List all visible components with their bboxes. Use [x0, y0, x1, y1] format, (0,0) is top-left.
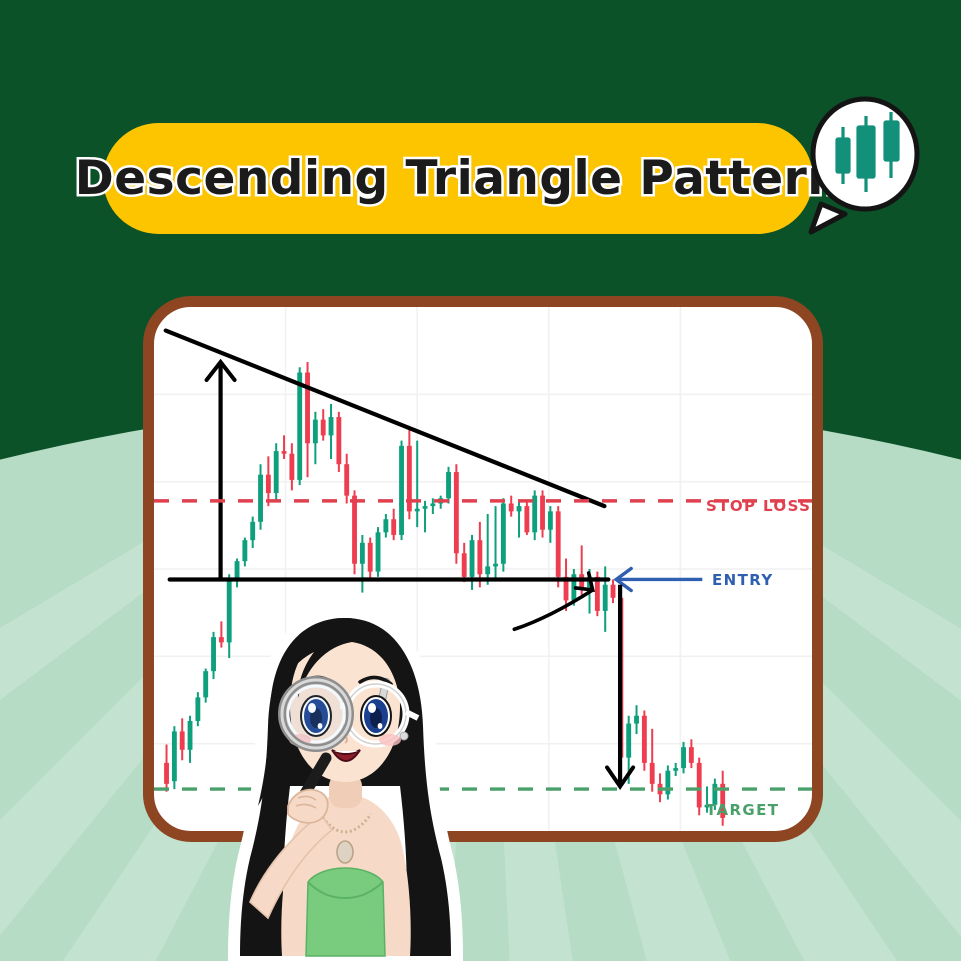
candlestick — [250, 517, 255, 548]
candlestick — [446, 467, 451, 504]
candlestick — [650, 729, 655, 792]
target-label: TARGET — [706, 801, 779, 819]
candlestick — [642, 710, 647, 770]
candlestick — [164, 745, 169, 792]
candlestick — [524, 501, 529, 535]
candlestick — [344, 454, 349, 504]
candlestick — [289, 443, 294, 490]
candlestick — [423, 501, 428, 532]
candlestick — [462, 543, 467, 582]
candlestick — [235, 559, 240, 588]
candlestick — [501, 498, 506, 571]
candlestick — [266, 456, 271, 506]
blush-right — [379, 734, 401, 746]
candlestick — [454, 464, 459, 564]
stop-loss-label: STOP LOSS — [706, 497, 811, 515]
upper-trendline — [166, 331, 605, 507]
candlestick — [203, 669, 208, 703]
candlestick — [697, 758, 702, 816]
candlestick — [211, 632, 216, 679]
necklace-pendant — [337, 841, 353, 863]
page-title: Descending Triangle Pattern — [103, 123, 813, 234]
candlestick — [407, 428, 412, 520]
candlestick — [352, 490, 357, 574]
character-illustration — [228, 606, 463, 961]
entry-line — [616, 568, 702, 590]
candlestick — [219, 621, 224, 647]
candlestick — [603, 566, 608, 632]
candlestick — [532, 490, 537, 540]
candlestick — [258, 464, 263, 530]
candlestick — [399, 441, 404, 541]
entry-label: ENTRY — [712, 571, 774, 589]
candlestick — [383, 514, 388, 538]
candlestick — [376, 527, 381, 577]
candlestick — [313, 412, 318, 464]
candlestick — [305, 362, 310, 477]
candlestick — [360, 535, 365, 593]
candlestick — [242, 538, 247, 567]
candlestick — [180, 718, 185, 760]
candlestick — [540, 490, 545, 537]
speech-bubble — [805, 92, 923, 237]
candlestick — [274, 443, 279, 501]
candlestick — [509, 496, 514, 517]
candlestick — [172, 726, 177, 789]
candlestick — [681, 742, 686, 773]
candlestick — [470, 535, 475, 590]
candlestick — [634, 705, 639, 734]
magnifier-icon — [282, 680, 350, 748]
eye-right — [361, 696, 391, 736]
poster-canvas: Descending Triangle Pattern STOP LOSS EN… — [0, 0, 961, 961]
candlestick — [665, 766, 670, 800]
candlestick — [321, 409, 326, 440]
candlestick — [391, 509, 396, 540]
candlestick — [485, 514, 490, 585]
candlestick — [556, 506, 561, 587]
candlestick — [415, 441, 420, 527]
candlestick — [368, 538, 373, 580]
candlestick — [611, 579, 616, 603]
candlestick — [336, 412, 341, 472]
candlestick — [188, 716, 193, 763]
candlestick — [195, 692, 200, 726]
candlestick — [517, 501, 522, 538]
candlestick — [673, 763, 678, 776]
earring — [400, 732, 408, 740]
page-title-text: Descending Triangle Pattern — [75, 151, 842, 206]
dress — [306, 868, 385, 956]
candlestick — [329, 404, 334, 459]
